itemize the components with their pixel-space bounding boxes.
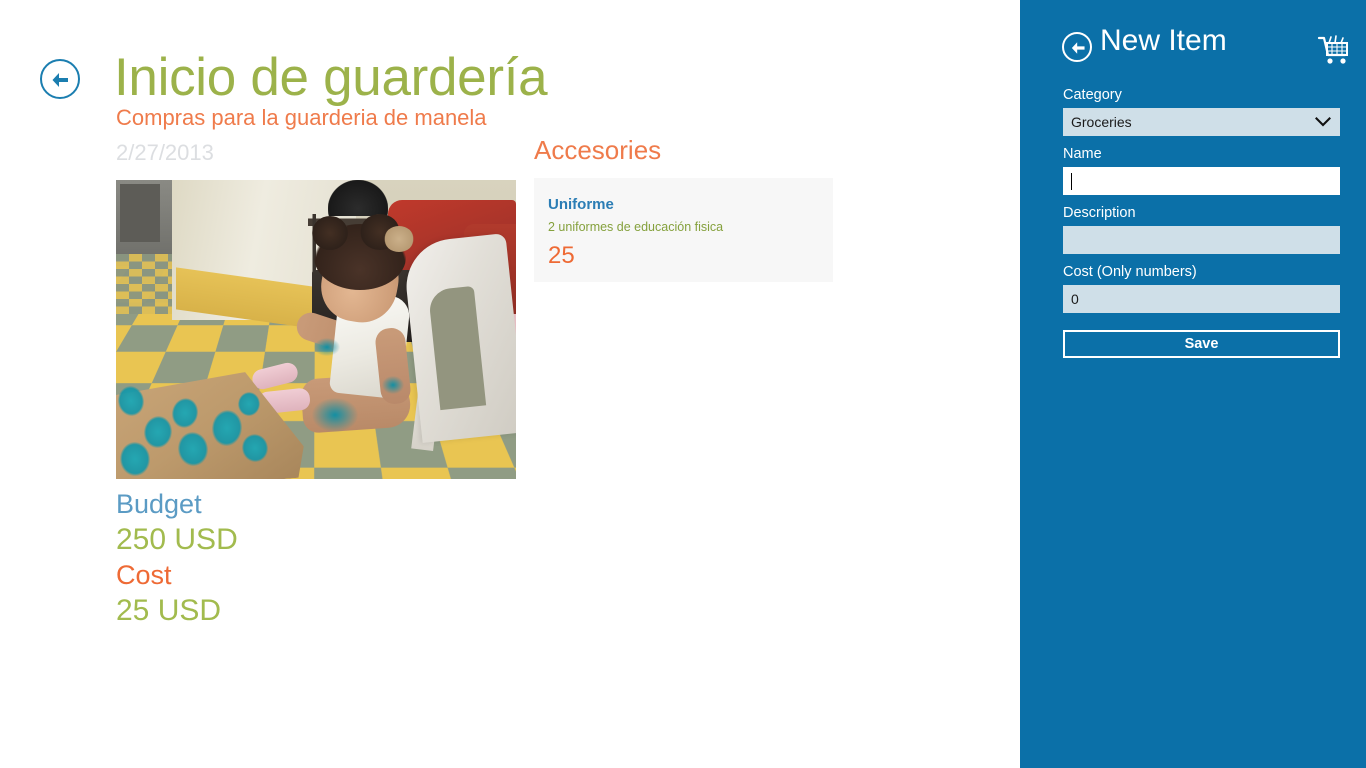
photo-handprint-8 <box>237 391 261 416</box>
page-date: 2/27/2013 <box>116 140 214 166</box>
new-item-form: Category Groceries Name Description Cost… <box>1063 86 1340 358</box>
project-photo <box>116 180 516 479</box>
item-name: Uniforme <box>548 195 833 215</box>
totals-block: Budget 250 USD Cost 25 USD <box>116 487 238 629</box>
panel-title: New Item <box>1100 24 1227 58</box>
group-heading: Accesories <box>534 135 833 166</box>
name-label: Name <box>1063 145 1340 164</box>
name-field-wrapper <box>1063 167 1340 195</box>
back-arrow-glyph <box>49 69 71 91</box>
category-select-wrapper: Groceries <box>1063 108 1340 136</box>
description-label: Description <box>1063 204 1340 223</box>
back-arrow-icon[interactable] <box>40 59 80 99</box>
cost-label: Cost (Only numbers) <box>1063 263 1340 282</box>
text-caret <box>1071 173 1072 190</box>
photo-hair-puff-left <box>312 216 348 250</box>
budget-label: Budget <box>116 487 238 522</box>
back-arrow-icon[interactable] <box>1062 32 1092 62</box>
new-item-flyout: New Item Category Groceries <box>1020 0 1366 768</box>
main-content: Inicio de guardería Compras para la guar… <box>0 0 1020 768</box>
cost-value: 25 USD <box>116 593 238 629</box>
panel-header: New Item <box>1020 28 1366 72</box>
budget-value: 250 USD <box>116 522 238 558</box>
photo-teal-hand-smear-1 <box>314 338 340 356</box>
photo-teal-hand-smear-3 <box>382 376 404 394</box>
category-select[interactable]: Groceries <box>1063 108 1340 136</box>
page-title: Inicio de guardería <box>114 48 547 107</box>
group-accesories: Accesories Uniforme 2 uniformes de educa… <box>534 135 833 282</box>
photo-hair-bow <box>384 226 414 252</box>
cost-input[interactable] <box>1063 285 1340 313</box>
app-window: Inicio de guardería Compras para la guar… <box>0 0 1366 768</box>
item-cost: 25 <box>548 241 833 271</box>
photo-doorway <box>120 184 160 242</box>
photo-grill <box>328 180 388 216</box>
description-input[interactable] <box>1063 226 1340 254</box>
item-description: 2 uniformes de educación fisica <box>548 217 833 237</box>
cost-label: Cost <box>116 558 238 593</box>
save-button[interactable]: Save <box>1063 330 1340 358</box>
back-arrow-glyph <box>1069 39 1087 57</box>
list-item[interactable]: Uniforme 2 uniformes de educación fisica… <box>534 178 833 282</box>
name-input[interactable] <box>1063 167 1340 195</box>
shopping-cart-icon[interactable] <box>1317 34 1351 66</box>
page-subtitle: Compras para la guarderia de manela <box>116 105 487 131</box>
category-label: Category <box>1063 86 1340 105</box>
photo-teal-hand-smear-2 <box>312 398 358 432</box>
